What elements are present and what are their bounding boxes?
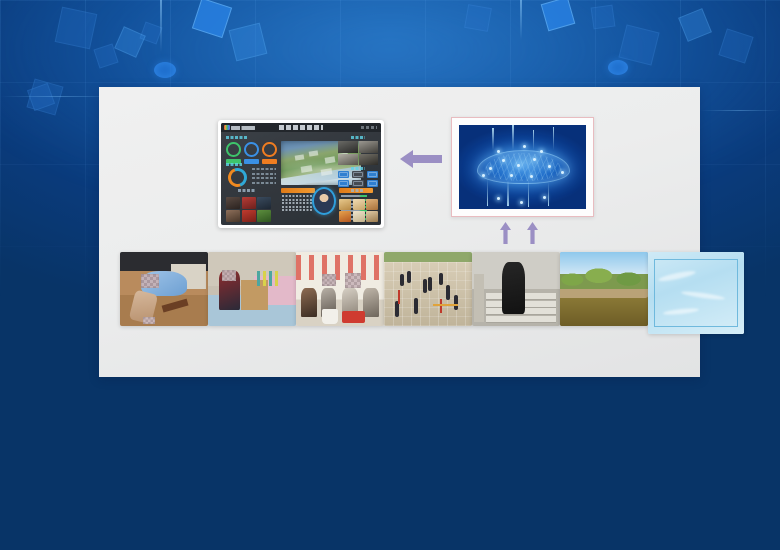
cctv-feed	[359, 141, 379, 153]
dashboard-title-label	[279, 125, 323, 130]
face-mosaic	[345, 273, 361, 288]
resident-thumb	[257, 210, 271, 222]
device-tile	[352, 171, 363, 178]
cctv-feed	[338, 141, 358, 153]
donut-legend	[252, 168, 276, 186]
face-mosaic	[143, 317, 155, 324]
dashboard-screenshot[interactable]	[218, 120, 384, 228]
device-section-label	[351, 167, 365, 170]
meal-thumb	[366, 211, 378, 222]
resident-thumbnail-grid[interactable]	[226, 197, 271, 223]
photo-water-panel[interactable]	[648, 252, 744, 334]
photo-activity-room[interactable]	[296, 252, 384, 326]
resident-thumb	[257, 197, 271, 209]
ai-brain-illustration[interactable]	[451, 117, 594, 217]
meal-thumb	[339, 199, 351, 210]
resident-thumb	[242, 210, 256, 222]
donut-chart[interactable]	[225, 165, 250, 190]
alert-list-left[interactable]	[282, 195, 312, 213]
donut-section-label	[226, 163, 242, 166]
meal-thumb	[353, 211, 365, 222]
device-tile	[367, 180, 378, 187]
photo-courtyard[interactable]	[384, 252, 472, 326]
meal-thumbnail-grid[interactable]	[339, 199, 378, 223]
face-mosaic	[141, 274, 159, 287]
cctv-feed	[359, 154, 379, 166]
photo-bedroom-monitoring[interactable]	[208, 252, 296, 326]
gauge-green[interactable]	[226, 142, 241, 164]
arrow-up-right	[527, 222, 538, 244]
content-panel	[99, 87, 700, 377]
face-mosaic	[222, 270, 236, 281]
cctv-section-label	[351, 136, 365, 139]
device-tile-grid[interactable]	[338, 171, 378, 187]
arrow-left-to-dashboard	[398, 149, 442, 169]
gauge-blue[interactable]	[244, 142, 259, 164]
device-tile	[352, 180, 363, 187]
meal-thumb	[353, 199, 365, 210]
cctv-feed-grid[interactable]	[338, 141, 378, 165]
resident-thumb	[226, 197, 240, 209]
source-scene-strip	[120, 252, 744, 334]
resident-thumb	[242, 197, 256, 209]
device-tile	[367, 171, 378, 178]
slide-canvas	[0, 0, 780, 550]
brand-name-label	[231, 126, 255, 130]
gauge-group	[226, 142, 277, 164]
photo-riverside[interactable]	[560, 252, 648, 326]
resident-thumb	[226, 210, 240, 222]
gauge-orange[interactable]	[262, 142, 277, 164]
photo-stairway[interactable]	[472, 252, 560, 326]
photo-grid-label	[238, 189, 256, 192]
cctv-feed	[338, 154, 358, 166]
arrow-up-left	[500, 222, 511, 244]
device-tile	[338, 180, 349, 187]
meal-thumb	[366, 199, 378, 210]
gauges-section-label	[226, 136, 248, 139]
resident-avatar[interactable]	[312, 187, 336, 215]
device-tile	[338, 171, 349, 178]
dashboard-header-menu[interactable]	[361, 126, 377, 129]
brand-logo-icon	[224, 125, 230, 130]
photo-fall-detection[interactable]	[120, 252, 208, 326]
meal-thumb	[339, 211, 351, 222]
orange-bar-left	[281, 188, 315, 193]
face-mosaic	[322, 274, 336, 286]
meals-section-label	[351, 189, 363, 192]
